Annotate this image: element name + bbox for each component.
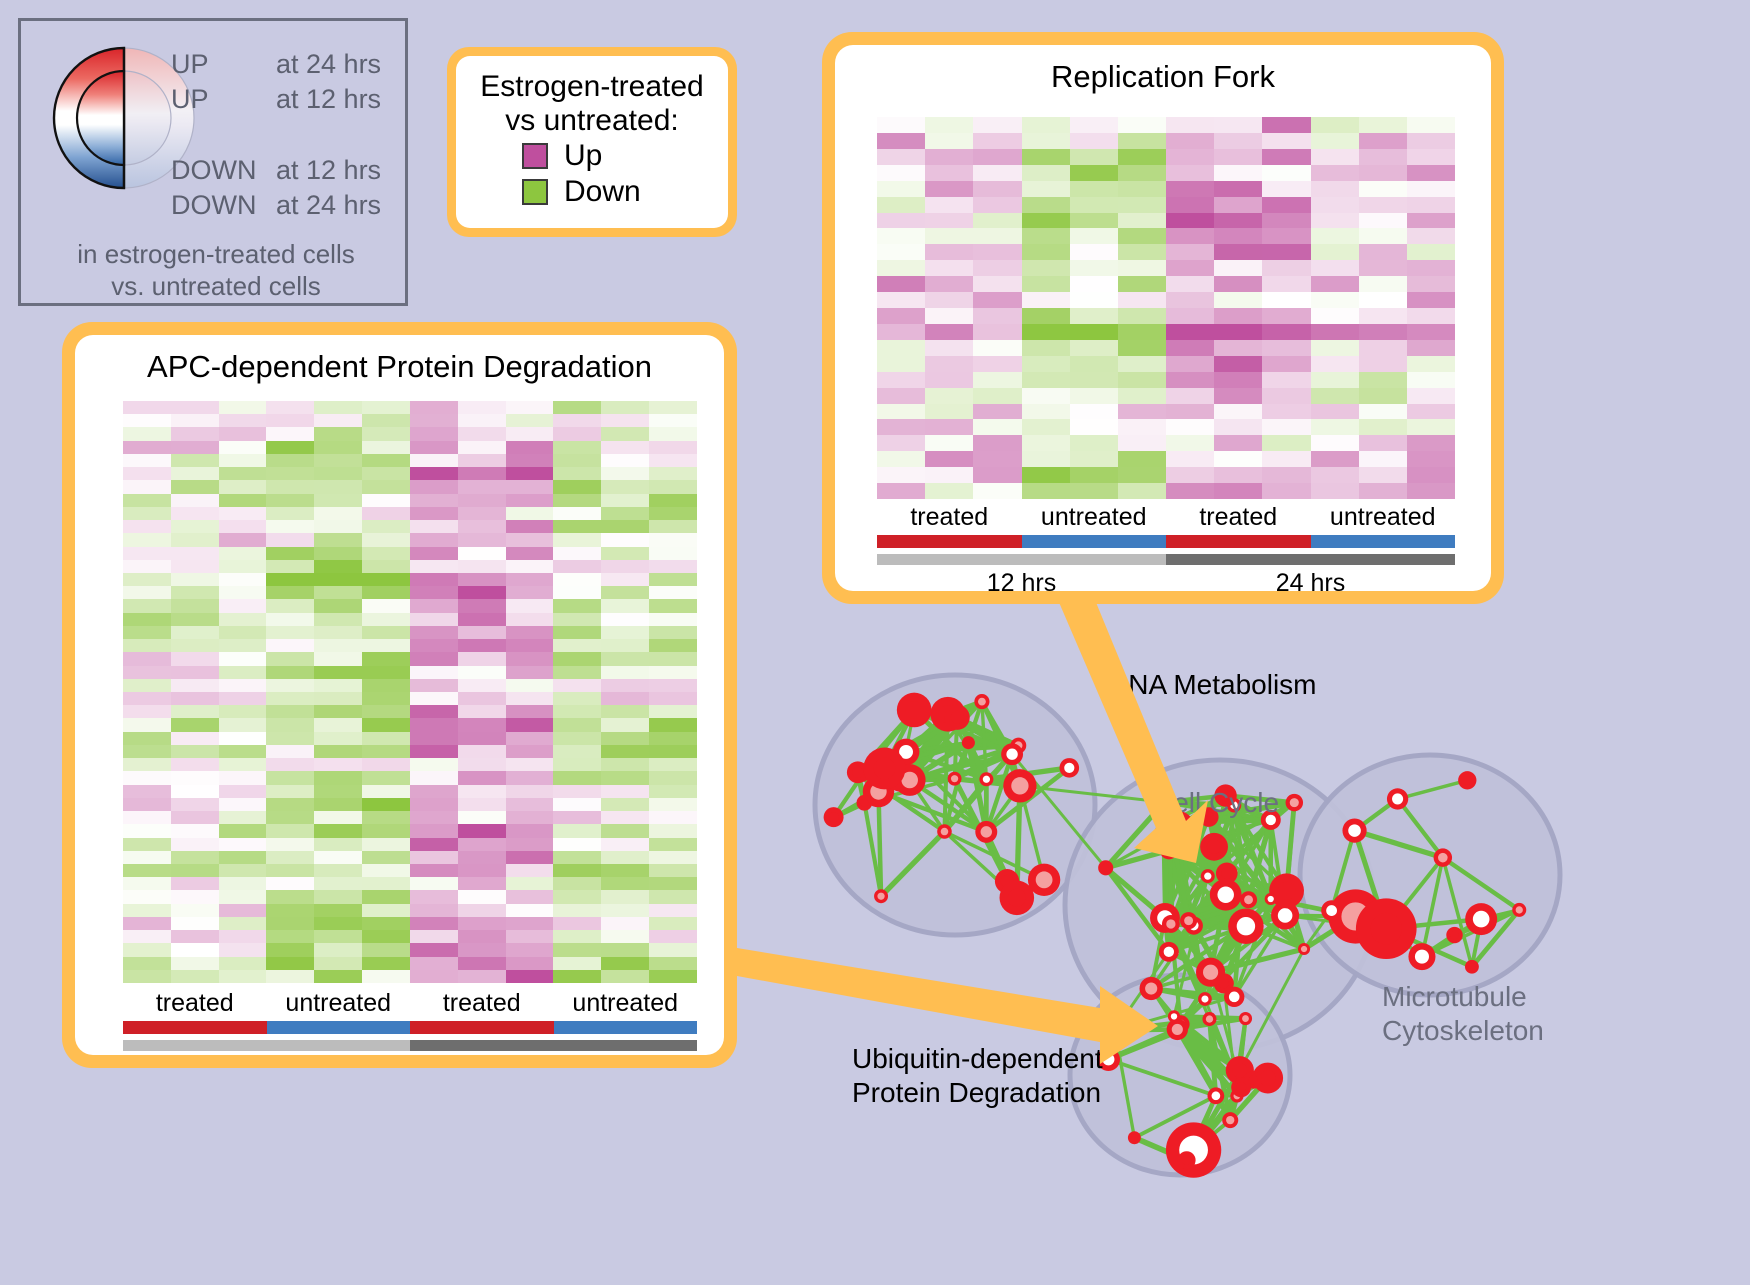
heatmap-cell — [410, 586, 458, 599]
heatmap-cell — [1359, 404, 1407, 420]
sample-colorbar-segment — [1311, 535, 1456, 548]
network-node-core — [1006, 749, 1017, 760]
heatmap-cell — [123, 586, 171, 599]
heatmap-cell — [410, 705, 458, 718]
sample-colorbar-segment — [267, 1021, 411, 1034]
heatmap-cell — [1166, 340, 1214, 356]
heatmap-cell — [410, 414, 458, 427]
heatmap-cell — [925, 435, 973, 451]
heatmap-cell — [123, 798, 171, 811]
heatmap-cell — [1311, 467, 1359, 483]
heatmap-cell — [1407, 228, 1455, 244]
heatmap-cell — [1166, 483, 1214, 499]
heatmap-cell — [973, 165, 1021, 181]
heatmap-cell — [219, 970, 267, 983]
heatmap-cell — [458, 877, 506, 890]
network-node-core — [1226, 1116, 1234, 1124]
heatmap-cell — [1262, 356, 1310, 372]
heatmap-cell — [314, 957, 362, 970]
heatmap-cell — [1311, 228, 1359, 244]
heatmap-cell — [1166, 244, 1214, 260]
heatmap-cell — [1214, 165, 1262, 181]
heatmap-cell — [362, 970, 410, 983]
legend-value: at 24 hrs — [276, 51, 381, 79]
heatmap-cell — [1262, 308, 1310, 324]
heatmap-cell — [1407, 372, 1455, 388]
heatmap-cell — [458, 890, 506, 903]
heatmap-cell — [123, 692, 171, 705]
network-node-core — [1473, 911, 1490, 928]
heatmap-cell — [171, 890, 219, 903]
heatmap-cell — [219, 480, 267, 493]
network-node-core — [852, 767, 863, 778]
heatmap-cell — [123, 838, 171, 851]
heatmap-cell — [1118, 292, 1166, 308]
sample-colorbar-segment — [1166, 535, 1311, 548]
legend-item-up: Up — [522, 139, 718, 173]
heatmap-cell — [1166, 133, 1214, 149]
legend-key: DOWN — [171, 157, 276, 185]
heatmap-cell — [925, 483, 973, 499]
heatmap-cell — [1166, 213, 1214, 229]
heatmap-cell — [649, 785, 697, 798]
heatmap-cell — [314, 917, 362, 930]
heatmap-cell — [266, 507, 314, 520]
heatmap-cell — [506, 480, 554, 493]
heatmap-cell — [1118, 260, 1166, 276]
heatmap-cell — [266, 824, 314, 837]
heatmap-cell — [314, 401, 362, 414]
heatmap-cell — [925, 260, 973, 276]
heatmap-cell — [1118, 483, 1166, 499]
heatmap-cell — [877, 467, 925, 483]
heatmap-cell — [649, 851, 697, 864]
heatmap-cell — [601, 401, 649, 414]
heatmap-cell — [1359, 356, 1407, 372]
legend-row-up-12: UP at 12 hrs — [171, 86, 411, 114]
heatmap-cell — [553, 692, 601, 705]
heatmap-cell — [925, 324, 973, 340]
heatmap-cell — [362, 692, 410, 705]
heatmap-cell — [973, 117, 1021, 133]
heatmap-cell — [1022, 419, 1070, 435]
heatmap-cell — [506, 586, 554, 599]
heatmap-cell — [219, 520, 267, 533]
heatmap-cell — [1407, 276, 1455, 292]
heatmap-cell — [649, 639, 697, 652]
network-node-core — [1011, 777, 1028, 794]
network-node-core — [1516, 906, 1523, 913]
heatmap-cell — [1407, 213, 1455, 229]
heatmap-cell — [1407, 451, 1455, 467]
network-node-core — [1212, 1091, 1221, 1100]
heatmap-cell — [171, 851, 219, 864]
heatmap-cell — [219, 785, 267, 798]
heatmap-cell — [123, 652, 171, 665]
heatmap-cell — [506, 970, 554, 983]
heatmap-cell — [1407, 308, 1455, 324]
heatmap-cell — [1407, 133, 1455, 149]
heatmap-cell — [553, 890, 601, 903]
heatmap-cell — [171, 613, 219, 626]
heatmap-cell — [219, 824, 267, 837]
heatmap-cell — [314, 533, 362, 546]
heatmap-cell — [458, 758, 506, 771]
heatmap-cell — [458, 586, 506, 599]
heatmap-cell — [973, 292, 1021, 308]
heatmap-cell — [1214, 308, 1262, 324]
network-node-core — [1008, 889, 1026, 907]
heatmap-cell — [1407, 419, 1455, 435]
heatmap-cell — [123, 547, 171, 560]
heatmap-cell — [1262, 213, 1310, 229]
heatmap-cell — [601, 692, 649, 705]
heatmap-cell — [1311, 260, 1359, 276]
heatmap-cell — [171, 414, 219, 427]
heatmap-cell — [458, 560, 506, 573]
heatmap-cell — [506, 441, 554, 454]
heatmap-cell — [362, 758, 410, 771]
heatmap-cell — [601, 599, 649, 612]
heatmap-cell — [266, 718, 314, 731]
heatmap-cell — [458, 679, 506, 692]
heatmap-cell — [1359, 292, 1407, 308]
heatmap-cell — [553, 560, 601, 573]
heatmap-cell — [410, 890, 458, 903]
heatmap-cell — [649, 480, 697, 493]
heatmap-cell — [362, 666, 410, 679]
heatmap-cell — [973, 197, 1021, 213]
heatmap-cell — [266, 904, 314, 917]
heatmap-cell — [877, 324, 925, 340]
legend-value: at 12 hrs — [276, 86, 381, 114]
heatmap-cell — [506, 467, 554, 480]
network-node-core — [1278, 882, 1296, 900]
heatmap-cell — [553, 613, 601, 626]
heatmap-cell — [506, 917, 554, 930]
heatmap-cell — [1022, 181, 1070, 197]
heatmap-cell — [266, 877, 314, 890]
heatmap-cell — [410, 639, 458, 652]
network-node-core — [981, 826, 992, 837]
heatmap-cell — [553, 441, 601, 454]
heatmap-cell — [123, 480, 171, 493]
network-node-core — [1290, 798, 1299, 807]
heatmap-cell — [601, 586, 649, 599]
heatmap-cell — [553, 586, 601, 599]
heatmap-cell — [123, 533, 171, 546]
time-label: 12 hrs — [877, 569, 1166, 591]
heatmap-cell — [1214, 244, 1262, 260]
heatmap-cell — [877, 388, 925, 404]
heatmap-cell — [458, 930, 506, 943]
sample-label: treated — [877, 503, 1022, 532]
heatmap-cell — [123, 639, 171, 652]
heatmap-cell — [553, 494, 601, 507]
heatmap-cell — [1311, 244, 1359, 260]
heatmap-cell — [458, 705, 506, 718]
legend-row-down-12: DOWN at 12 hrs — [171, 157, 411, 185]
heatmap-cell — [314, 970, 362, 983]
heatmap-cell — [219, 838, 267, 851]
heatmap-cell — [1022, 340, 1070, 356]
heatmap-cell — [1166, 149, 1214, 165]
network-node-core — [1207, 840, 1221, 854]
heatmap-cell — [314, 494, 362, 507]
heatmap-cell — [362, 943, 410, 956]
heatmap-cell — [1311, 197, 1359, 213]
heatmap-cell — [1359, 228, 1407, 244]
heatmap-cell — [877, 181, 925, 197]
heatmap-cell — [219, 705, 267, 718]
heatmap-cell — [123, 917, 171, 930]
heatmap-cell — [314, 838, 362, 851]
heatmap-cell — [1311, 165, 1359, 181]
network-node-core — [1172, 1024, 1183, 1035]
heatmap-cell — [506, 573, 554, 586]
heatmap-cell — [362, 904, 410, 917]
heatmap-cell — [553, 480, 601, 493]
heatmap-cell — [314, 441, 362, 454]
heatmap-cell — [410, 494, 458, 507]
heatmap-cell — [553, 520, 601, 533]
heatmap-cell — [973, 483, 1021, 499]
updown-legend-card: Estrogen-treated vs untreated: Up Down — [447, 47, 737, 237]
heatmap-cell — [553, 824, 601, 837]
heatmap-cell — [877, 356, 925, 372]
heatmap-cell — [1311, 181, 1359, 197]
sample-label: treated — [410, 989, 554, 1018]
heatmap-cell — [553, 401, 601, 414]
heatmap-cell — [1022, 356, 1070, 372]
heatmap-cell — [877, 260, 925, 276]
heatmap-cell — [601, 652, 649, 665]
heatmap-cell — [266, 626, 314, 639]
heatmap-cell — [1214, 372, 1262, 388]
network-node-core — [1468, 963, 1475, 970]
heatmap-cell — [553, 652, 601, 665]
heatmap-cell — [649, 666, 697, 679]
heatmap-cell — [1118, 388, 1166, 404]
heatmap-cell — [362, 930, 410, 943]
heatmap-cell — [1070, 419, 1118, 435]
heatmap-cell — [925, 292, 973, 308]
heatmap-cell — [1070, 435, 1118, 451]
network-node-core — [1217, 887, 1234, 904]
heatmap-cell — [458, 745, 506, 758]
heatmap-cell — [553, 705, 601, 718]
heatmap-cell — [410, 520, 458, 533]
heatmap-cell — [649, 533, 697, 546]
heatmap-cell — [506, 626, 554, 639]
network-node-core — [951, 711, 964, 724]
heatmap-cell — [314, 454, 362, 467]
heatmap-replication-fork — [877, 117, 1455, 499]
heatmap-cell — [649, 917, 697, 930]
heatmap-cell — [266, 414, 314, 427]
heatmap-cell — [1311, 324, 1359, 340]
heatmap-cell — [1166, 356, 1214, 372]
heatmap-cell — [1022, 483, 1070, 499]
heatmap-cell — [877, 419, 925, 435]
heatmap-cell — [219, 494, 267, 507]
heatmap-cell — [1407, 435, 1455, 451]
heatmap-cell — [410, 917, 458, 930]
heatmap-cell — [219, 811, 267, 824]
heatmap-cell — [601, 758, 649, 771]
network-node-core — [860, 799, 868, 807]
network-node-core — [1260, 1070, 1276, 1086]
heatmap-cell — [649, 573, 697, 586]
heatmap-cell — [1022, 197, 1070, 213]
cluster-label-dna-metabolism: DNA Metabolism — [1108, 668, 1317, 702]
heatmap-cell — [973, 308, 1021, 324]
heatmap-cell — [266, 467, 314, 480]
heatmap-cell — [314, 798, 362, 811]
heatmap-cell — [1070, 244, 1118, 260]
heatmap-cell — [1022, 388, 1070, 404]
heatmap-cell — [410, 798, 458, 811]
heatmap-cell — [362, 771, 410, 784]
heatmap-cell — [362, 745, 410, 758]
heatmap-cell — [1359, 308, 1407, 324]
heatmap-cell — [410, 533, 458, 546]
heatmap-cell — [410, 864, 458, 877]
network-node-core — [1237, 917, 1255, 935]
heatmap-cell — [266, 679, 314, 692]
network-node-core — [1171, 1013, 1177, 1019]
heatmap-cell — [1118, 181, 1166, 197]
heatmap-cell — [506, 824, 554, 837]
heatmap-cell — [1359, 117, 1407, 133]
heatmap-cell — [973, 244, 1021, 260]
heatmap-cell — [1118, 419, 1166, 435]
heatmap-cell — [123, 520, 171, 533]
heatmap-cell — [1214, 419, 1262, 435]
heatmap-cell — [973, 340, 1021, 356]
heatmap-cell — [1022, 260, 1070, 276]
heatmap-cell — [410, 718, 458, 731]
heatmap-cell — [314, 507, 362, 520]
heatmap-cell — [314, 943, 362, 956]
heatmap-cell — [458, 639, 506, 652]
heatmap-cell — [925, 404, 973, 420]
heatmap-cell — [362, 454, 410, 467]
heatmap-cell — [1407, 340, 1455, 356]
heatmap-cell — [410, 454, 458, 467]
heatmap-cell — [410, 573, 458, 586]
heatmap-cell — [1311, 308, 1359, 324]
heatmap-cell — [553, 811, 601, 824]
heatmap-cell — [410, 401, 458, 414]
heatmap-cell — [171, 798, 219, 811]
heatmap-cell — [1070, 197, 1118, 213]
heatmap-cell — [266, 930, 314, 943]
heatmap-cell — [219, 917, 267, 930]
heatmap-cell — [123, 970, 171, 983]
heatmap-cell — [925, 388, 973, 404]
heatmap-cell — [266, 480, 314, 493]
heatmap-cell — [1359, 213, 1407, 229]
heatmap-cell — [1262, 292, 1310, 308]
heatmap-cell — [458, 851, 506, 864]
heatmap-cell — [601, 613, 649, 626]
cluster-label-cell-cycle: Cell Cycle — [1153, 786, 1279, 820]
heatmap-cell — [362, 547, 410, 560]
heatmap-cell — [1214, 356, 1262, 372]
heatmap-cell — [1262, 404, 1310, 420]
network-node-core — [1201, 995, 1208, 1002]
heatmap-cell — [362, 441, 410, 454]
sample-bars-apc-degradation: treateduntreatedtreateduntreated12 hrs24… — [123, 989, 697, 1055]
heatmap-cell — [123, 705, 171, 718]
heatmap-cell — [649, 745, 697, 758]
network-node-core — [1131, 1134, 1138, 1141]
down-swatch-icon — [522, 179, 548, 205]
heatmap-cell — [171, 507, 219, 520]
heatmap-cell — [649, 520, 697, 533]
up-label: Up — [564, 139, 602, 173]
heatmap-cell — [553, 917, 601, 930]
heatmap-cell — [973, 388, 1021, 404]
heatmap-cell — [123, 679, 171, 692]
network-node-core — [978, 698, 986, 706]
heatmap-cell — [362, 586, 410, 599]
heatmap-cell — [506, 957, 554, 970]
sample-colorbar-segment — [1022, 535, 1167, 548]
heatmap-cell — [266, 666, 314, 679]
heatmap-cell — [123, 454, 171, 467]
heatmap-cell — [362, 467, 410, 480]
heatmap-cell — [506, 454, 554, 467]
heatmap-cell — [1262, 165, 1310, 181]
heatmap-cell — [877, 197, 925, 213]
heatmap-cell — [1359, 181, 1407, 197]
heatmap-cell — [925, 228, 973, 244]
heatmap-cell — [1262, 435, 1310, 451]
heatmap-cell — [314, 427, 362, 440]
heatmap-cell — [1407, 244, 1455, 260]
heatmap-cell — [601, 890, 649, 903]
heatmap-cell — [877, 276, 925, 292]
heatmap-cell — [171, 547, 219, 560]
heatmap-cell — [458, 520, 506, 533]
heatmap-cell — [506, 785, 554, 798]
heatmap-cell — [410, 785, 458, 798]
heatmap-cell — [266, 851, 314, 864]
heatmap-cell — [1214, 213, 1262, 229]
heatmap-cell — [1166, 435, 1214, 451]
heatmap-cell — [506, 401, 554, 414]
heatmap-cell — [649, 904, 697, 917]
heatmap-cell — [314, 811, 362, 824]
heatmap-cell — [1214, 324, 1262, 340]
heatmap-cell — [123, 494, 171, 507]
heatmap-cell — [266, 745, 314, 758]
heatmap-cell — [362, 798, 410, 811]
heatmap-cell — [410, 480, 458, 493]
heatmap-cell — [1166, 260, 1214, 276]
heatmap-cell — [553, 957, 601, 970]
sample-label: treated — [123, 989, 267, 1018]
network-node-core — [1164, 846, 1173, 855]
heatmap-cell — [1311, 372, 1359, 388]
heatmap-cell — [553, 877, 601, 890]
heatmap-cell — [1359, 467, 1407, 483]
heatmap-cell — [458, 904, 506, 917]
heatmap-cell — [123, 877, 171, 890]
heatmap-cell — [1118, 149, 1166, 165]
